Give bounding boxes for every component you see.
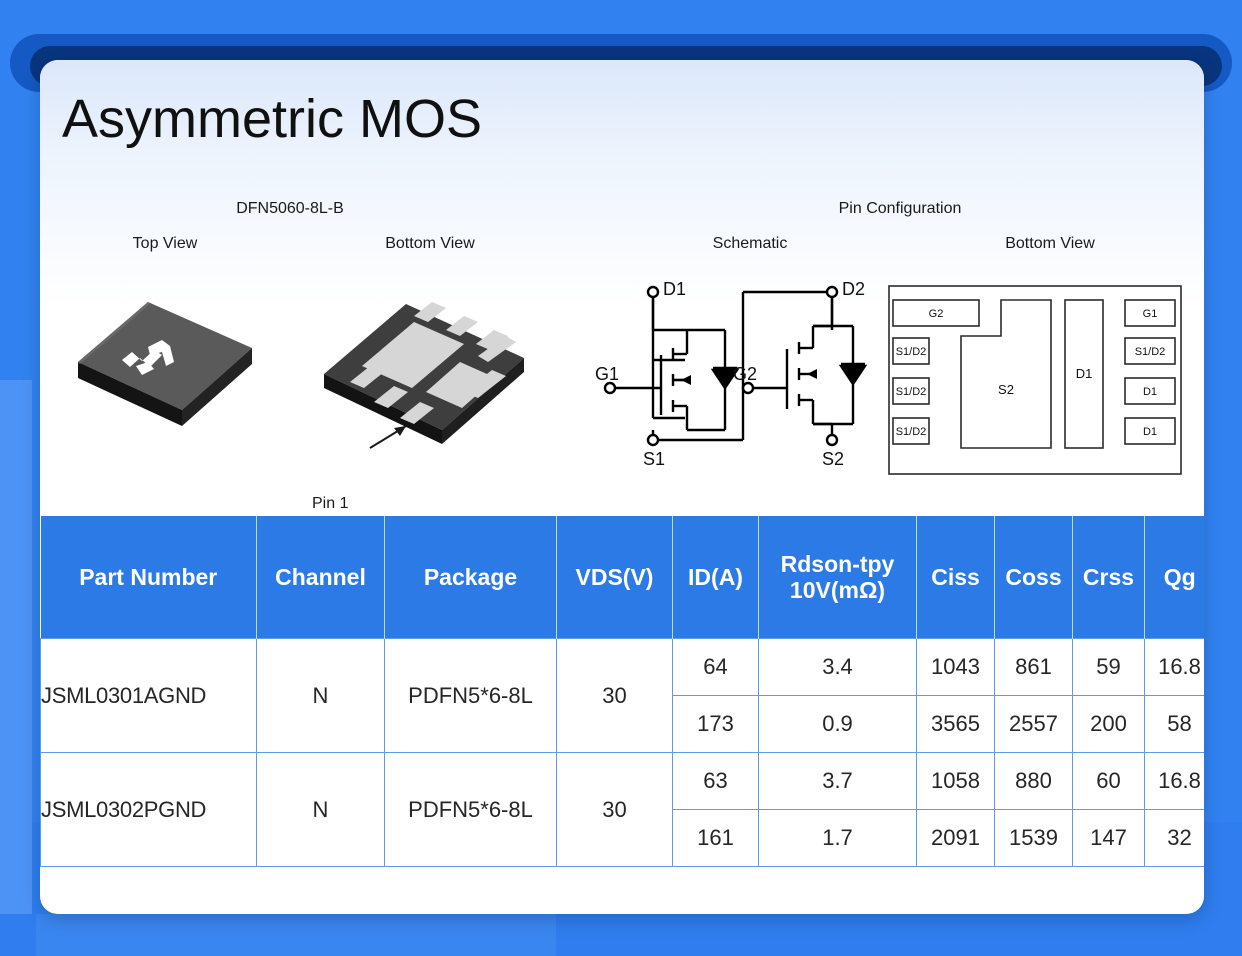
package-top-view-image bbox=[70, 270, 260, 440]
background-bottom-strip-light bbox=[36, 914, 556, 956]
cell-qg: 58 bbox=[1145, 696, 1205, 753]
top-view-caption: Top View bbox=[80, 235, 250, 253]
pinconf-pad-center-large: S2 bbox=[998, 382, 1014, 397]
pinconf-pad-left-2: S1/D2 bbox=[896, 386, 927, 398]
table-footer-spacer-cell bbox=[41, 867, 1205, 914]
header-crss: Crss bbox=[1073, 516, 1145, 639]
cell-coss: 2557 bbox=[995, 696, 1073, 753]
cell-id: 63 bbox=[673, 753, 759, 810]
specifications-table: Part Number Channel Package VDS(V) ID(A)… bbox=[40, 516, 1204, 913]
pinconf-pad-center-bar: D1 bbox=[1076, 366, 1093, 381]
pin1-label: Pin 1 bbox=[312, 495, 348, 513]
cell-crss: 60 bbox=[1073, 753, 1145, 810]
header-rdson: Rdson-tpy 10V(mΩ) bbox=[759, 516, 917, 639]
cell-crss: 147 bbox=[1073, 810, 1145, 867]
cell-rdson: 1.7 bbox=[759, 810, 917, 867]
cell-ciss: 3565 bbox=[917, 696, 995, 753]
cell-vds: 30 bbox=[557, 753, 673, 867]
cell-ciss: 1043 bbox=[917, 639, 995, 696]
schematic-label-g1: G1 bbox=[595, 364, 619, 384]
pinconf-pad-left-3: S1/D2 bbox=[896, 426, 927, 438]
cell-rdson: 3.4 bbox=[759, 639, 917, 696]
background-left-strip bbox=[0, 380, 32, 956]
header-qg: Qg bbox=[1145, 516, 1205, 639]
table-header-row: Part Number Channel Package VDS(V) ID(A)… bbox=[41, 516, 1205, 639]
cell-coss: 880 bbox=[995, 753, 1073, 810]
pinconf-pad-right-3: D1 bbox=[1143, 426, 1157, 438]
header-ciss: Ciss bbox=[917, 516, 995, 639]
pin-configuration-diagram: G2 S1/D2 S1/D2 S1/D2 S2 D1 G1 S1/D2 D1 D… bbox=[885, 280, 1185, 480]
cell-package: PDFN5*6-8L bbox=[385, 753, 557, 867]
schematic-caption: Schematic bbox=[660, 235, 840, 253]
schematic-label-d1: D1 bbox=[663, 279, 686, 299]
package-bottom-view-image bbox=[310, 270, 540, 460]
content-card: Asymmetric MOS DFN5060-8L-B Top View Bot… bbox=[40, 60, 1204, 914]
cell-channel: N bbox=[257, 753, 385, 867]
pinconf-pad-right-1: S1/D2 bbox=[1135, 346, 1166, 358]
cell-rdson: 0.9 bbox=[759, 696, 917, 753]
header-rdson-line1: Rdson-tpy bbox=[781, 551, 895, 577]
page-title: Asymmetric MOS bbox=[62, 88, 482, 150]
table-footer-spacer-row bbox=[41, 867, 1205, 914]
header-part-number: Part Number bbox=[41, 516, 257, 639]
table-row: JSML0302PGND N PDFN5*6-8L 30 63 3.7 1058… bbox=[41, 753, 1205, 810]
pinconf-bottom-view-caption: Bottom View bbox=[940, 235, 1160, 253]
cell-part-number: JSML0302PGND bbox=[41, 753, 257, 867]
cell-ciss: 2091 bbox=[917, 810, 995, 867]
cell-rdson: 3.7 bbox=[759, 753, 917, 810]
table-row: JSML0301AGND N PDFN5*6-8L 30 64 3.4 1043… bbox=[41, 639, 1205, 696]
cell-id: 161 bbox=[673, 810, 759, 867]
header-coss: Coss bbox=[995, 516, 1073, 639]
cell-channel: N bbox=[257, 639, 385, 753]
cell-coss: 1539 bbox=[995, 810, 1073, 867]
schematic-label-d2: D2 bbox=[842, 279, 865, 299]
cell-qg: 16.8 bbox=[1145, 753, 1205, 810]
cell-id: 173 bbox=[673, 696, 759, 753]
pinconf-pad-right-2: D1 bbox=[1143, 386, 1157, 398]
package-name-caption: DFN5060-8L-B bbox=[180, 200, 400, 218]
cell-vds: 30 bbox=[557, 639, 673, 753]
header-vds: VDS(V) bbox=[557, 516, 673, 639]
cell-coss: 861 bbox=[995, 639, 1073, 696]
bottom-view-caption: Bottom View bbox=[330, 235, 530, 253]
cell-qg: 32 bbox=[1145, 810, 1205, 867]
cell-qg: 16.8 bbox=[1145, 639, 1205, 696]
header-channel: Channel bbox=[257, 516, 385, 639]
schematic-label-s1: S1 bbox=[643, 449, 665, 469]
pin-configuration-caption: Pin Configuration bbox=[780, 200, 1020, 218]
header-package: Package bbox=[385, 516, 557, 639]
pinconf-pad-left-0: G2 bbox=[929, 308, 944, 320]
schematic-diagram: D1 D2 G1 G2 S1 S2 bbox=[595, 270, 895, 485]
cell-ciss: 1058 bbox=[917, 753, 995, 810]
cell-id: 64 bbox=[673, 639, 759, 696]
pinconf-pad-left-1: S1/D2 bbox=[896, 346, 927, 358]
cell-package: PDFN5*6-8L bbox=[385, 639, 557, 753]
schematic-label-s2: S2 bbox=[822, 449, 844, 469]
header-rdson-line2: 10V(mΩ) bbox=[790, 577, 885, 603]
cell-crss: 59 bbox=[1073, 639, 1145, 696]
pinconf-pad-right-0: G1 bbox=[1143, 308, 1158, 320]
figures-region: DFN5060-8L-B Top View Bottom View Pin Co… bbox=[40, 190, 1204, 510]
cell-part-number: JSML0301AGND bbox=[41, 639, 257, 753]
slide-stage: Asymmetric MOS DFN5060-8L-B Top View Bot… bbox=[0, 0, 1242, 956]
schematic-label-g2: G2 bbox=[733, 364, 757, 384]
header-id: ID(A) bbox=[673, 516, 759, 639]
cell-crss: 200 bbox=[1073, 696, 1145, 753]
